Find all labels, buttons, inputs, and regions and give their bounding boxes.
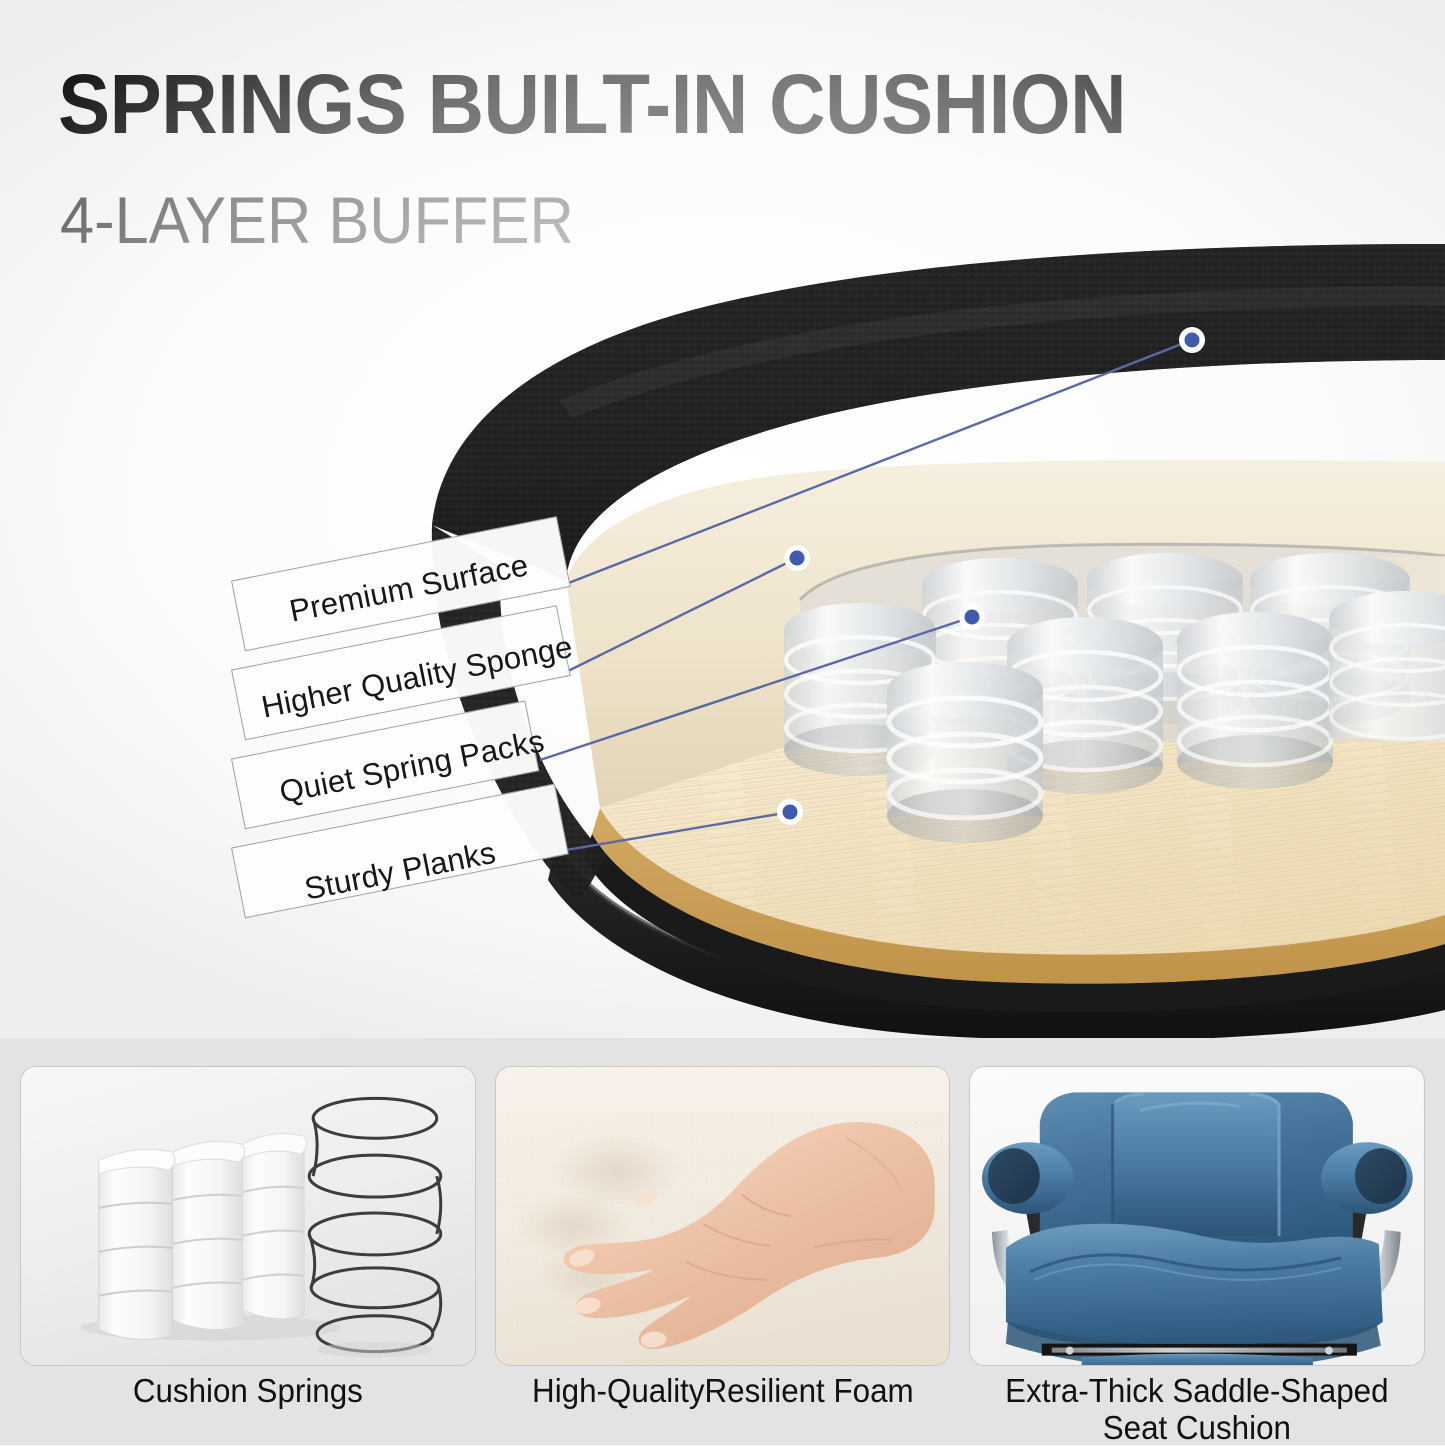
caption-cushion-springs: Cushion Springs bbox=[31, 1372, 464, 1446]
infographic-root: SPRINGS BUILT-IN CUSHION 4-LAYER BUFFER bbox=[0, 0, 1445, 1445]
pocket-spring-pouch bbox=[173, 1142, 245, 1330]
feature-card-resilient-foam[interactable] bbox=[495, 1066, 951, 1366]
chair-seat-cushion bbox=[1006, 1224, 1383, 1344]
armrest-pad bbox=[982, 1142, 1074, 1214]
caption-saddle-seat-cushion: Extra-Thick Saddle-Shaped Seat Cushion bbox=[981, 1372, 1414, 1446]
feature-card-cushion-springs[interactable] bbox=[20, 1066, 476, 1366]
feature-panels-section: Cushion Springs High-QualityResilient Fo… bbox=[0, 1038, 1445, 1445]
callout-label-layer: Premium Surface Higher Quality Sponge Qu… bbox=[0, 0, 1445, 1038]
feature-captions-row: Cushion Springs High-QualityResilient Fo… bbox=[0, 1372, 1445, 1446]
caption-resilient-foam: High-QualityResilient Foam bbox=[506, 1372, 939, 1446]
feature-cards-row bbox=[0, 1066, 1445, 1366]
armrest-pad bbox=[1321, 1142, 1413, 1214]
feature-card-saddle-seat-cushion[interactable] bbox=[969, 1066, 1425, 1366]
pocket-spring-pouch bbox=[99, 1150, 175, 1340]
pocket-spring-pouch bbox=[242, 1134, 306, 1319]
hero-section: SPRINGS BUILT-IN CUSHION 4-LAYER BUFFER bbox=[0, 0, 1445, 1038]
